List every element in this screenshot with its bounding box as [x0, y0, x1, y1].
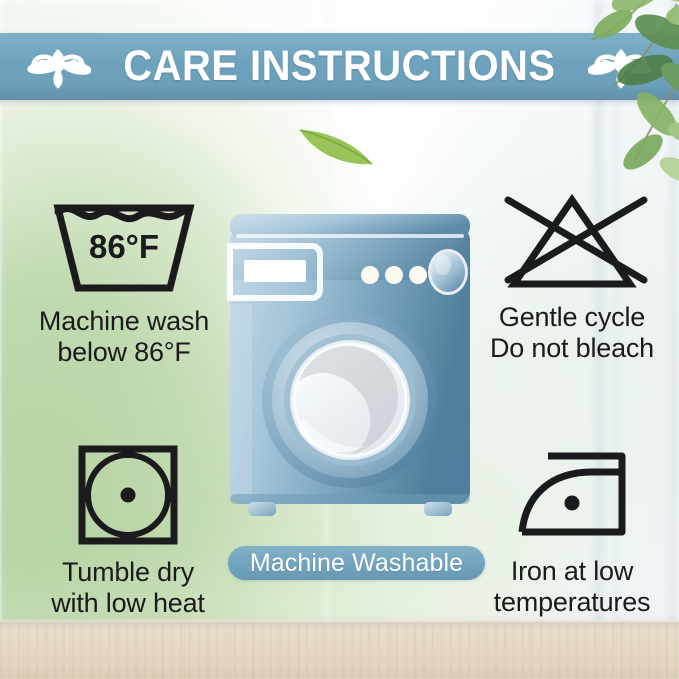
fleur-de-lis-icon — [588, 44, 654, 90]
care-item-label: Tumble dry with low heat — [51, 557, 204, 620]
machine-washable-badge-label: Machine Washable — [250, 549, 463, 578]
floating-leaf-icon — [296, 120, 376, 172]
care-item-label: Machine wash below 86°F — [39, 306, 209, 369]
care-item-tumble-dry-low: Tumble dry with low heat — [30, 443, 226, 620]
care-item-gentle-cycle-no-bleach: Gentle cycle Do not bleach — [468, 192, 676, 365]
fleur-de-lis-icon — [25, 44, 91, 90]
no-bleach-triangle-icon — [494, 192, 650, 292]
wash-temperature-value: 86°F — [89, 228, 159, 265]
page-title: CARE INSTRUCTIONS — [123, 45, 555, 88]
washer-foot — [248, 502, 276, 516]
tumble-dry-low-heat-icon — [76, 443, 180, 547]
detergent-drawer — [244, 260, 306, 282]
care-item-label: Gentle cycle Do not bleach — [490, 302, 654, 365]
wooden-table-surface — [0, 622, 679, 679]
header-banner: CARE INSTRUCTIONS — [0, 33, 679, 100]
care-item-machine-wash: 86°F Machine wash below 86°F — [26, 196, 222, 369]
care-instructions-infographic: CARE INSTRUCTIONS — [0, 0, 679, 679]
iron-low-temperature-icon — [504, 446, 640, 546]
wash-tub-icon: 86°F — [48, 196, 200, 296]
washing-machine-illustration — [226, 212, 474, 530]
care-item-label: Iron at low temperatures — [494, 556, 651, 619]
care-item-iron-low: Iron at low temperatures — [466, 446, 678, 619]
machine-washable-badge: Machine Washable — [228, 546, 485, 580]
washer-foot — [424, 502, 452, 516]
